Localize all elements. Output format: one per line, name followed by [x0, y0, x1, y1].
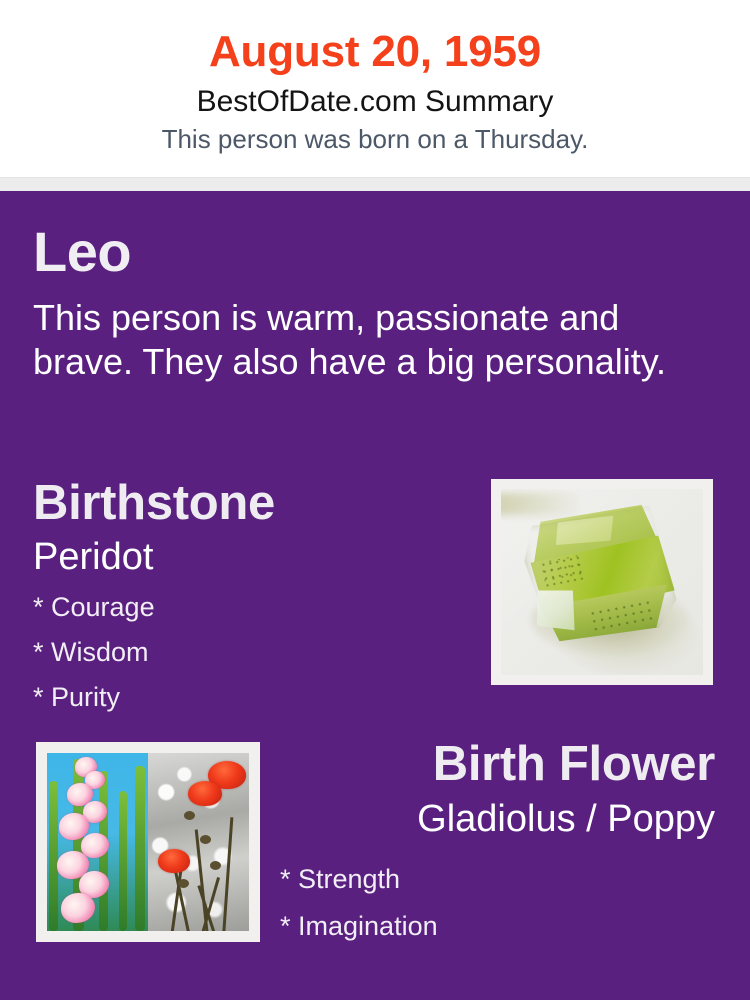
gem-crystal [518, 498, 687, 657]
birthstone-trait-list: * Courage * Wisdom * Purity [33, 585, 155, 720]
birthstone-name: Peridot [33, 534, 153, 580]
zodiac-description: This person is warm, passionate and brav… [33, 296, 693, 384]
gladiolus-poppy-photo [36, 742, 260, 942]
summary-card: August 20, 1959 BestOfDate.com Summary T… [0, 0, 750, 1000]
list-item: * Courage [33, 585, 155, 630]
birth-flower-name: Gladiolus / Poppy [417, 796, 715, 842]
birth-flower-heading: Birth Flower [433, 735, 715, 793]
header: August 20, 1959 BestOfDate.com Summary T… [0, 0, 750, 177]
peridot-gem-photo [491, 479, 713, 685]
birth-flower-trait-list: * Strength * Imagination [280, 856, 438, 950]
gladiolus-blooms [55, 757, 121, 929]
peridot-gem-image [501, 489, 703, 675]
zodiac-sign-name: Leo [33, 222, 131, 282]
list-item: * Imagination [280, 903, 438, 950]
site-subtitle: BestOfDate.com Summary [0, 78, 750, 120]
page-title: August 20, 1959 [0, 0, 750, 78]
weekday-note: This person was born on a Thursday. [0, 120, 750, 155]
flower-image [47, 753, 249, 931]
list-item: * Wisdom [33, 630, 155, 675]
gladiolus-photo-half [47, 753, 148, 931]
list-item: * Strength [280, 856, 438, 903]
photo-highlight [501, 493, 581, 515]
list-item: * Purity [33, 675, 155, 720]
birthstone-heading: Birthstone [33, 476, 275, 530]
header-divider [0, 177, 750, 191]
poppy-photo-half [148, 753, 249, 931]
